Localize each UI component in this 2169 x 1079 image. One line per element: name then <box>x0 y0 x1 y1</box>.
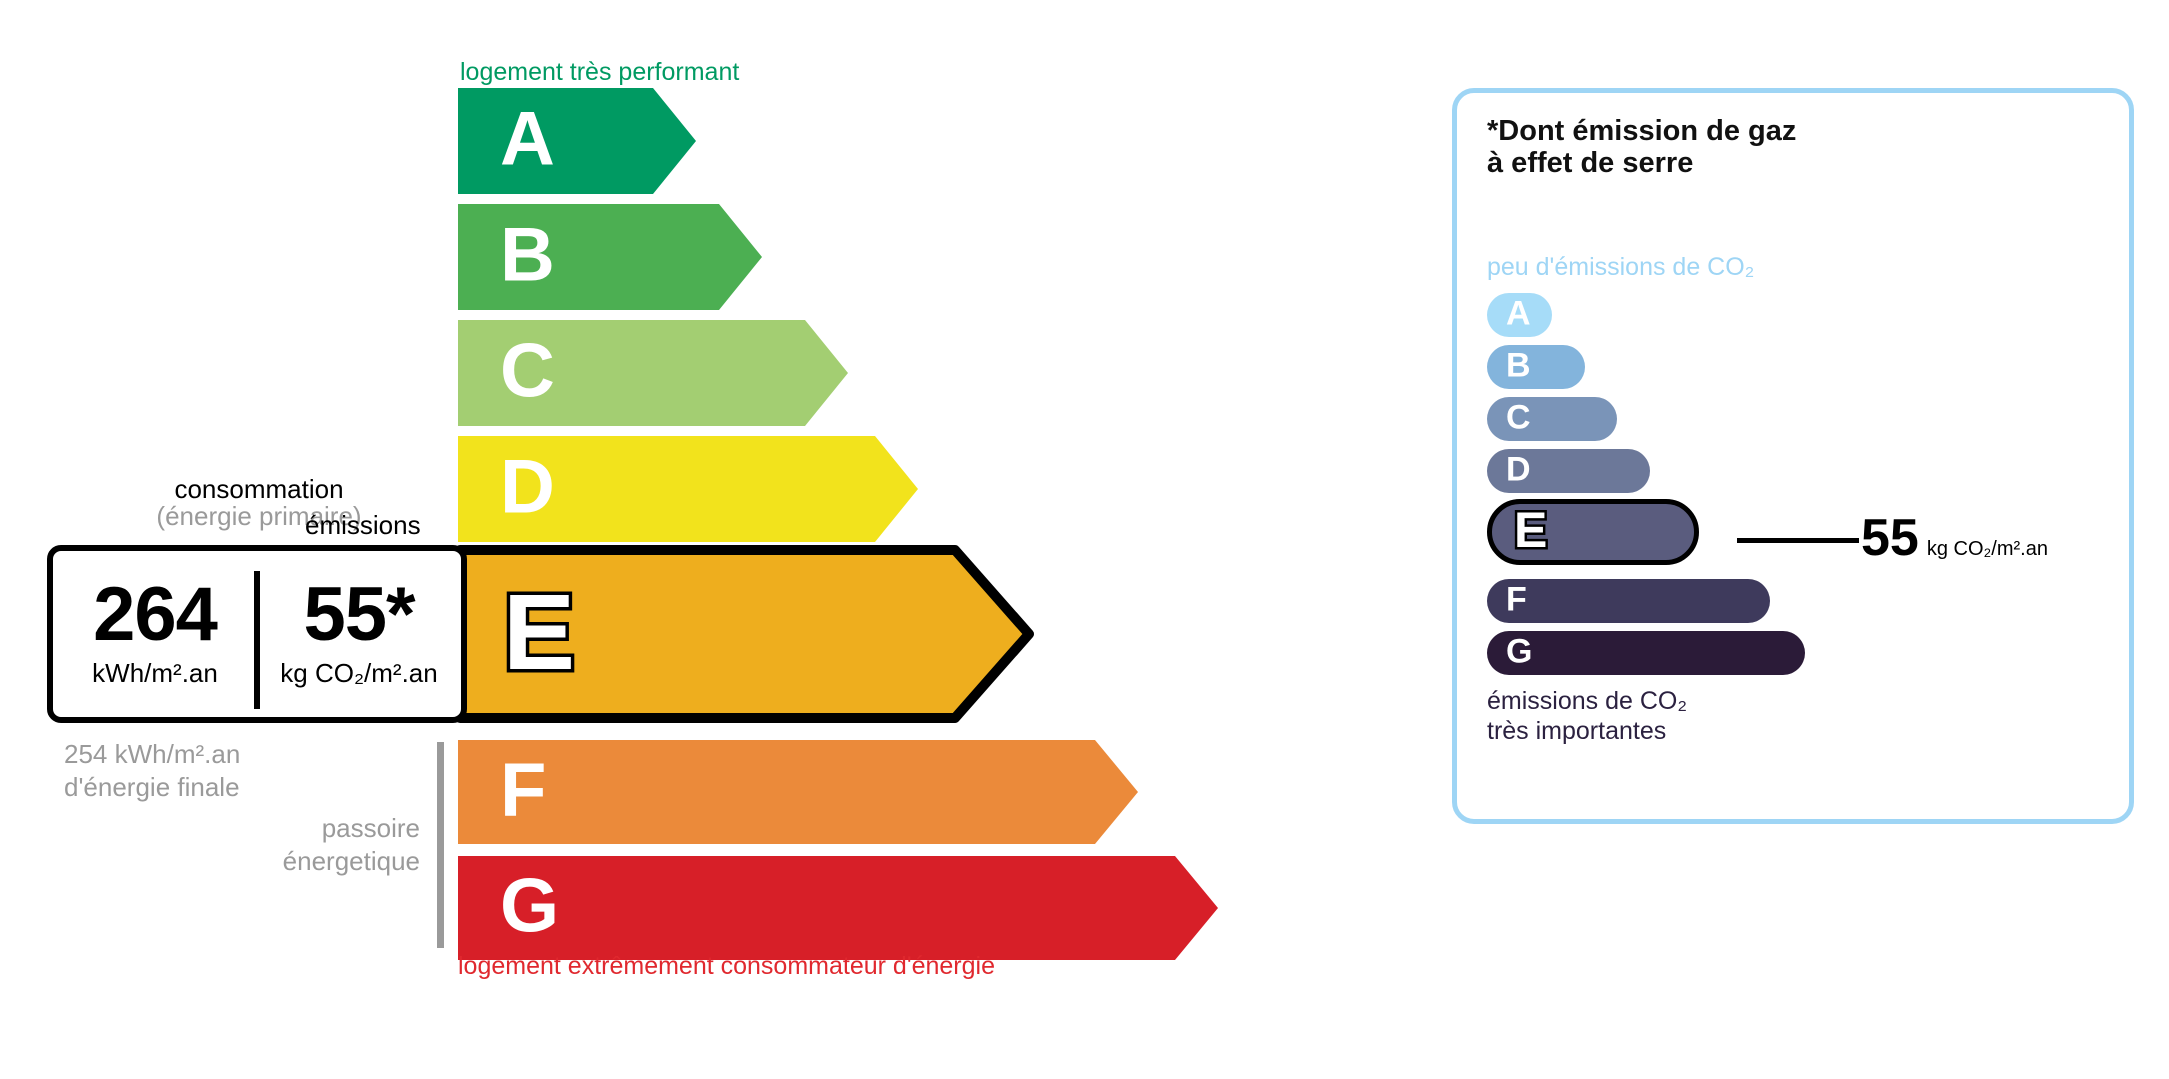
energy-bar-a-letter: A <box>500 101 555 177</box>
ges-bar-a-letter: A <box>1506 297 1531 331</box>
energy-top-caption: logement très performant <box>460 58 739 87</box>
ges-bottom-caption: émissions de CO₂ très importantes <box>1487 687 1687 746</box>
ges-bar-g-letter: G <box>1506 635 1532 669</box>
energy-bar-f[interactable]: F <box>458 740 1138 844</box>
energy-bar-c[interactable]: C <box>458 320 848 426</box>
energy-bar-b-letter: B <box>500 217 555 293</box>
ges-bar-g[interactable]: G <box>1487 631 1805 675</box>
energy-bar-d[interactable]: D <box>458 436 918 542</box>
co2-value: 55* <box>303 579 414 651</box>
passoire-label: passoire énergetique <box>180 812 420 877</box>
primary-energy-unit: kWh/m².an <box>92 658 218 689</box>
passoire-label-line1: passoire <box>322 813 420 843</box>
co2-unit: kg CO₂/m².an <box>280 658 437 689</box>
energy-bar-b[interactable]: B <box>458 204 762 310</box>
co2-value-cell: 55* kg CO₂/m².an <box>257 551 461 717</box>
energy-bar-g[interactable]: G <box>458 856 1218 960</box>
ges-bar-c[interactable]: C <box>1487 397 1617 441</box>
ges-bar-a[interactable]: A <box>1487 293 1552 337</box>
ges-bar-f[interactable]: F <box>1487 579 1770 623</box>
energy-bar-a[interactable]: A <box>458 88 696 194</box>
ges-panel: *Dont émission de gaz à effet de serre p… <box>1452 88 2134 824</box>
final-energy-note-line2: d'énergie finale <box>64 772 240 802</box>
primary-energy-value: 264 <box>93 579 217 651</box>
ges-title-line2: à effet de serre <box>1487 147 1693 179</box>
ges-value: 55kg CO₂/m².an <box>1861 512 2048 564</box>
ges-top-caption: peu d'émissions de CO₂ <box>1487 253 1754 282</box>
passoire-vertical-rule <box>437 742 444 948</box>
energy-bar-c-letter: C <box>500 333 555 409</box>
ges-bottom-caption-line1: émissions de CO₂ <box>1487 687 1687 715</box>
energy-bar-f-letter: F <box>500 752 546 828</box>
energy-bar-e-selected[interactable]: E <box>455 545 1035 723</box>
ges-bar-f-letter: F <box>1506 583 1527 617</box>
energy-performance-diagram: logement très performant A B C D E <box>0 0 1330 1079</box>
ges-bar-d[interactable]: D <box>1487 449 1650 493</box>
ges-value-unit: kg CO₂/m².an <box>1927 538 2048 560</box>
ges-value-number: 55 <box>1861 509 1919 567</box>
final-energy-note: 254 kWh/m².an d'énergie finale <box>64 738 240 803</box>
ges-title: *Dont émission de gaz à effet de serre <box>1487 115 1796 180</box>
energy-bar-g-letter: G <box>500 868 559 944</box>
energy-bar-e-letter: E <box>503 578 575 686</box>
final-energy-note-line1: 254 kWh/m².an <box>64 739 240 769</box>
consumption-label-main: consommation <box>174 474 343 504</box>
energy-bottom-caption: logement extrêmement consommateur d'éner… <box>458 952 995 981</box>
emissions-label: émissions <box>305 510 421 541</box>
ges-bar-c-letter: C <box>1506 401 1531 435</box>
ges-title-line1: *Dont émission de gaz <box>1487 115 1796 147</box>
passoire-label-line2: énergetique <box>283 846 420 876</box>
energy-value-box: 264 kWh/m².an 55* kg CO₂/m².an <box>47 545 467 723</box>
energy-bar-d-letter: D <box>500 449 555 525</box>
ges-bar-d-letter: D <box>1506 453 1531 487</box>
ges-bar-b[interactable]: B <box>1487 345 1585 389</box>
primary-energy-value-cell: 264 kWh/m².an <box>53 551 257 717</box>
ges-bar-b-letter: B <box>1506 349 1531 383</box>
ges-bar-e-selected[interactable]: E <box>1487 499 1699 565</box>
ges-bar-e-letter: E <box>1514 505 1547 555</box>
ges-bottom-caption-line2: très importantes <box>1487 717 1666 745</box>
ges-leader-line <box>1737 538 1859 543</box>
